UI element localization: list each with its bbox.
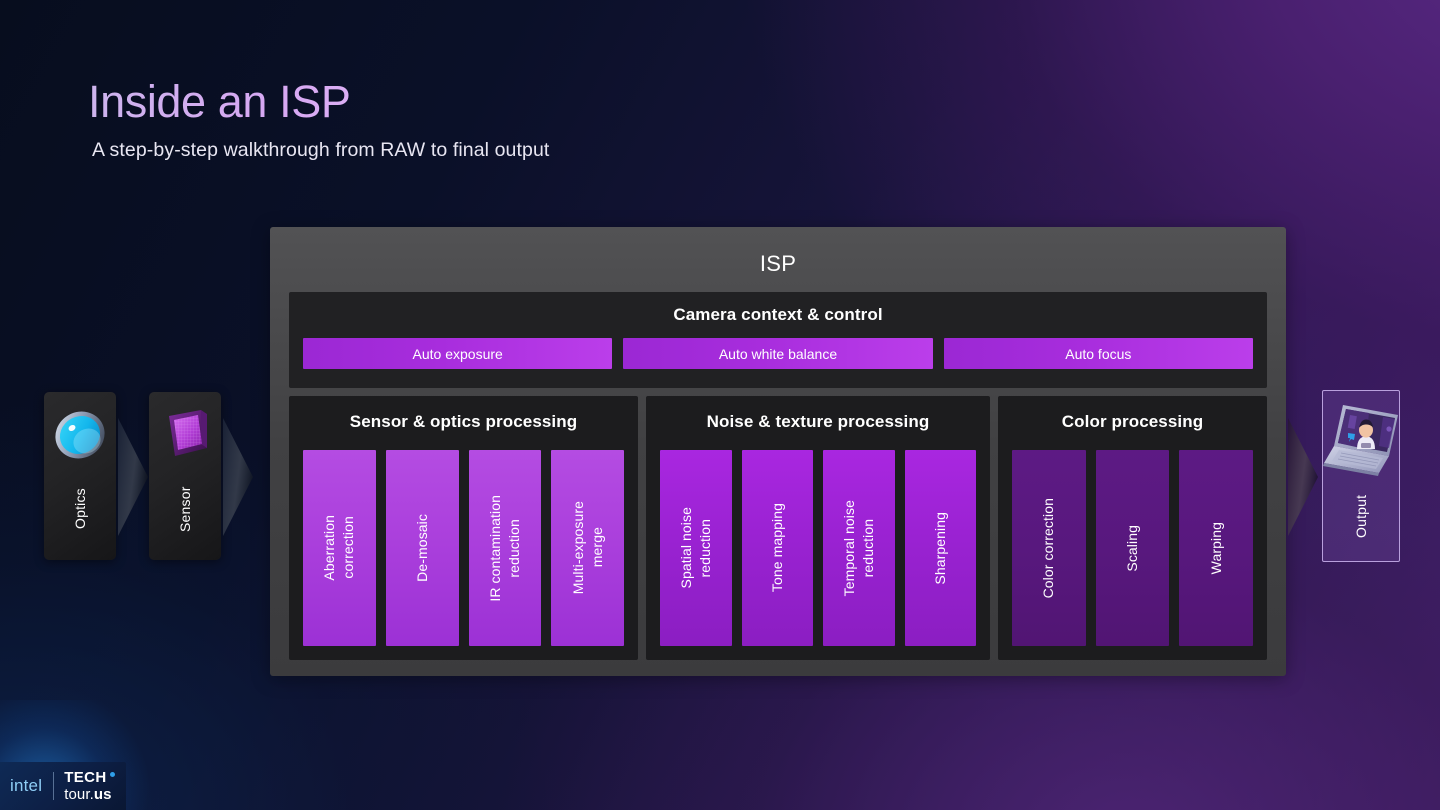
laptop-video-call-icon — [1321, 393, 1403, 485]
ctx-button-auto-white-balance[interactable]: Auto white balance — [623, 338, 932, 369]
stage-sensor-label: Sensor — [149, 466, 221, 552]
intel-logo: intel — [0, 776, 53, 796]
camera-context-title: Camera context & control — [289, 305, 1267, 325]
card-spatial-noise-reduction[interactable]: Spatial noise reduction — [660, 450, 732, 646]
card-de-mosaic[interactable]: De-mosaic — [386, 450, 459, 646]
card-label: De-mosaic — [413, 514, 432, 582]
card-temporal-noise-reduction[interactable]: Temporal noise reduction — [823, 450, 895, 646]
card-ir-contamination-reduction[interactable]: IR contamination reduction — [469, 450, 542, 646]
techtour-logo: TECH tour.us — [54, 770, 114, 802]
card-aberration-correction[interactable]: Aberration correction — [303, 450, 376, 646]
stage-output[interactable]: Output — [1322, 390, 1400, 562]
group-title: Sensor & optics processing — [303, 412, 624, 432]
stage-output-label: Output — [1323, 477, 1399, 555]
brand-bar: intel TECH tour.us — [0, 762, 126, 810]
sensor-chip-icon — [149, 404, 221, 466]
isp-title: ISP — [270, 251, 1286, 277]
group-cards: Aberration correction De-mosaic IR conta… — [303, 450, 624, 646]
group-title: Color processing — [1012, 412, 1253, 432]
page-subtitle: A step-by-step walkthrough from RAW to f… — [92, 139, 549, 162]
page-title: Inside an ISP — [88, 78, 549, 125]
group-cards: Spatial noise reduction Tone mapping Tem… — [660, 450, 976, 646]
card-scaling[interactable]: Scaling — [1096, 450, 1170, 646]
camera-context-section: Camera context & control Auto exposure A… — [289, 292, 1267, 388]
techtour-bottom-bold: us — [94, 786, 112, 803]
techtour-top-text: TECH — [64, 769, 106, 786]
card-label: Sharpening — [931, 512, 950, 585]
ctx-button-label: Auto focus — [1065, 346, 1131, 362]
techtour-logo-top: TECH — [64, 770, 114, 785]
card-label: Aberration correction — [320, 515, 358, 581]
card-label: IR contamination reduction — [486, 495, 524, 602]
group-color-processing: Color processing Color correction Scalin… — [998, 396, 1267, 660]
card-label: Scaling — [1123, 525, 1142, 572]
group-cards: Color correction Scaling Warping — [1012, 450, 1253, 646]
ctx-button-auto-focus[interactable]: Auto focus — [944, 338, 1253, 369]
group-sensor-optics-processing: Sensor & optics processing Aberration co… — [289, 396, 638, 660]
processing-groups-row: Sensor & optics processing Aberration co… — [289, 396, 1267, 660]
ctx-button-label: Auto white balance — [719, 346, 837, 362]
card-label: Warping — [1207, 522, 1226, 574]
arrow-sensor-to-isp — [223, 418, 257, 536]
techtour-bottom-light: tour. — [64, 786, 94, 803]
card-multi-exposure-merge[interactable]: Multi-exposure merge — [551, 450, 624, 646]
isp-panel: ISP Camera context & control Auto exposu… — [270, 227, 1286, 676]
card-label: Temporal noise reduction — [840, 500, 878, 596]
group-noise-texture-processing: Noise & texture processing Spatial noise… — [646, 396, 990, 660]
camera-context-button-row: Auto exposure Auto white balance Auto fo… — [303, 338, 1253, 369]
slide-canvas: Inside an ISP A step-by-step walkthrough… — [0, 0, 1440, 810]
lens-icon — [44, 404, 116, 466]
card-label: Tone mapping — [768, 503, 787, 592]
card-label: Color correction — [1039, 498, 1058, 598]
card-warping[interactable]: Warping — [1179, 450, 1253, 646]
techtour-dot-icon — [110, 772, 115, 777]
card-color-correction[interactable]: Color correction — [1012, 450, 1086, 646]
card-label: Multi-exposure merge — [569, 501, 607, 594]
techtour-logo-bottom: tour.us — [64, 787, 114, 802]
stage-optics-label: Optics — [44, 466, 116, 552]
stage-sensor[interactable]: Sensor — [149, 392, 221, 560]
card-tone-mapping[interactable]: Tone mapping — [742, 450, 814, 646]
arrow-isp-to-output — [1288, 418, 1322, 536]
group-title: Noise & texture processing — [660, 412, 976, 432]
card-label: Spatial noise reduction — [677, 507, 715, 588]
ctx-button-auto-exposure[interactable]: Auto exposure — [303, 338, 612, 369]
title-block: Inside an ISP A step-by-step walkthrough… — [88, 78, 549, 162]
stage-optics[interactable]: Optics — [44, 392, 116, 560]
arrow-optics-to-sensor — [118, 418, 152, 536]
card-sharpening[interactable]: Sharpening — [905, 450, 977, 646]
ctx-button-label: Auto exposure — [413, 346, 503, 362]
